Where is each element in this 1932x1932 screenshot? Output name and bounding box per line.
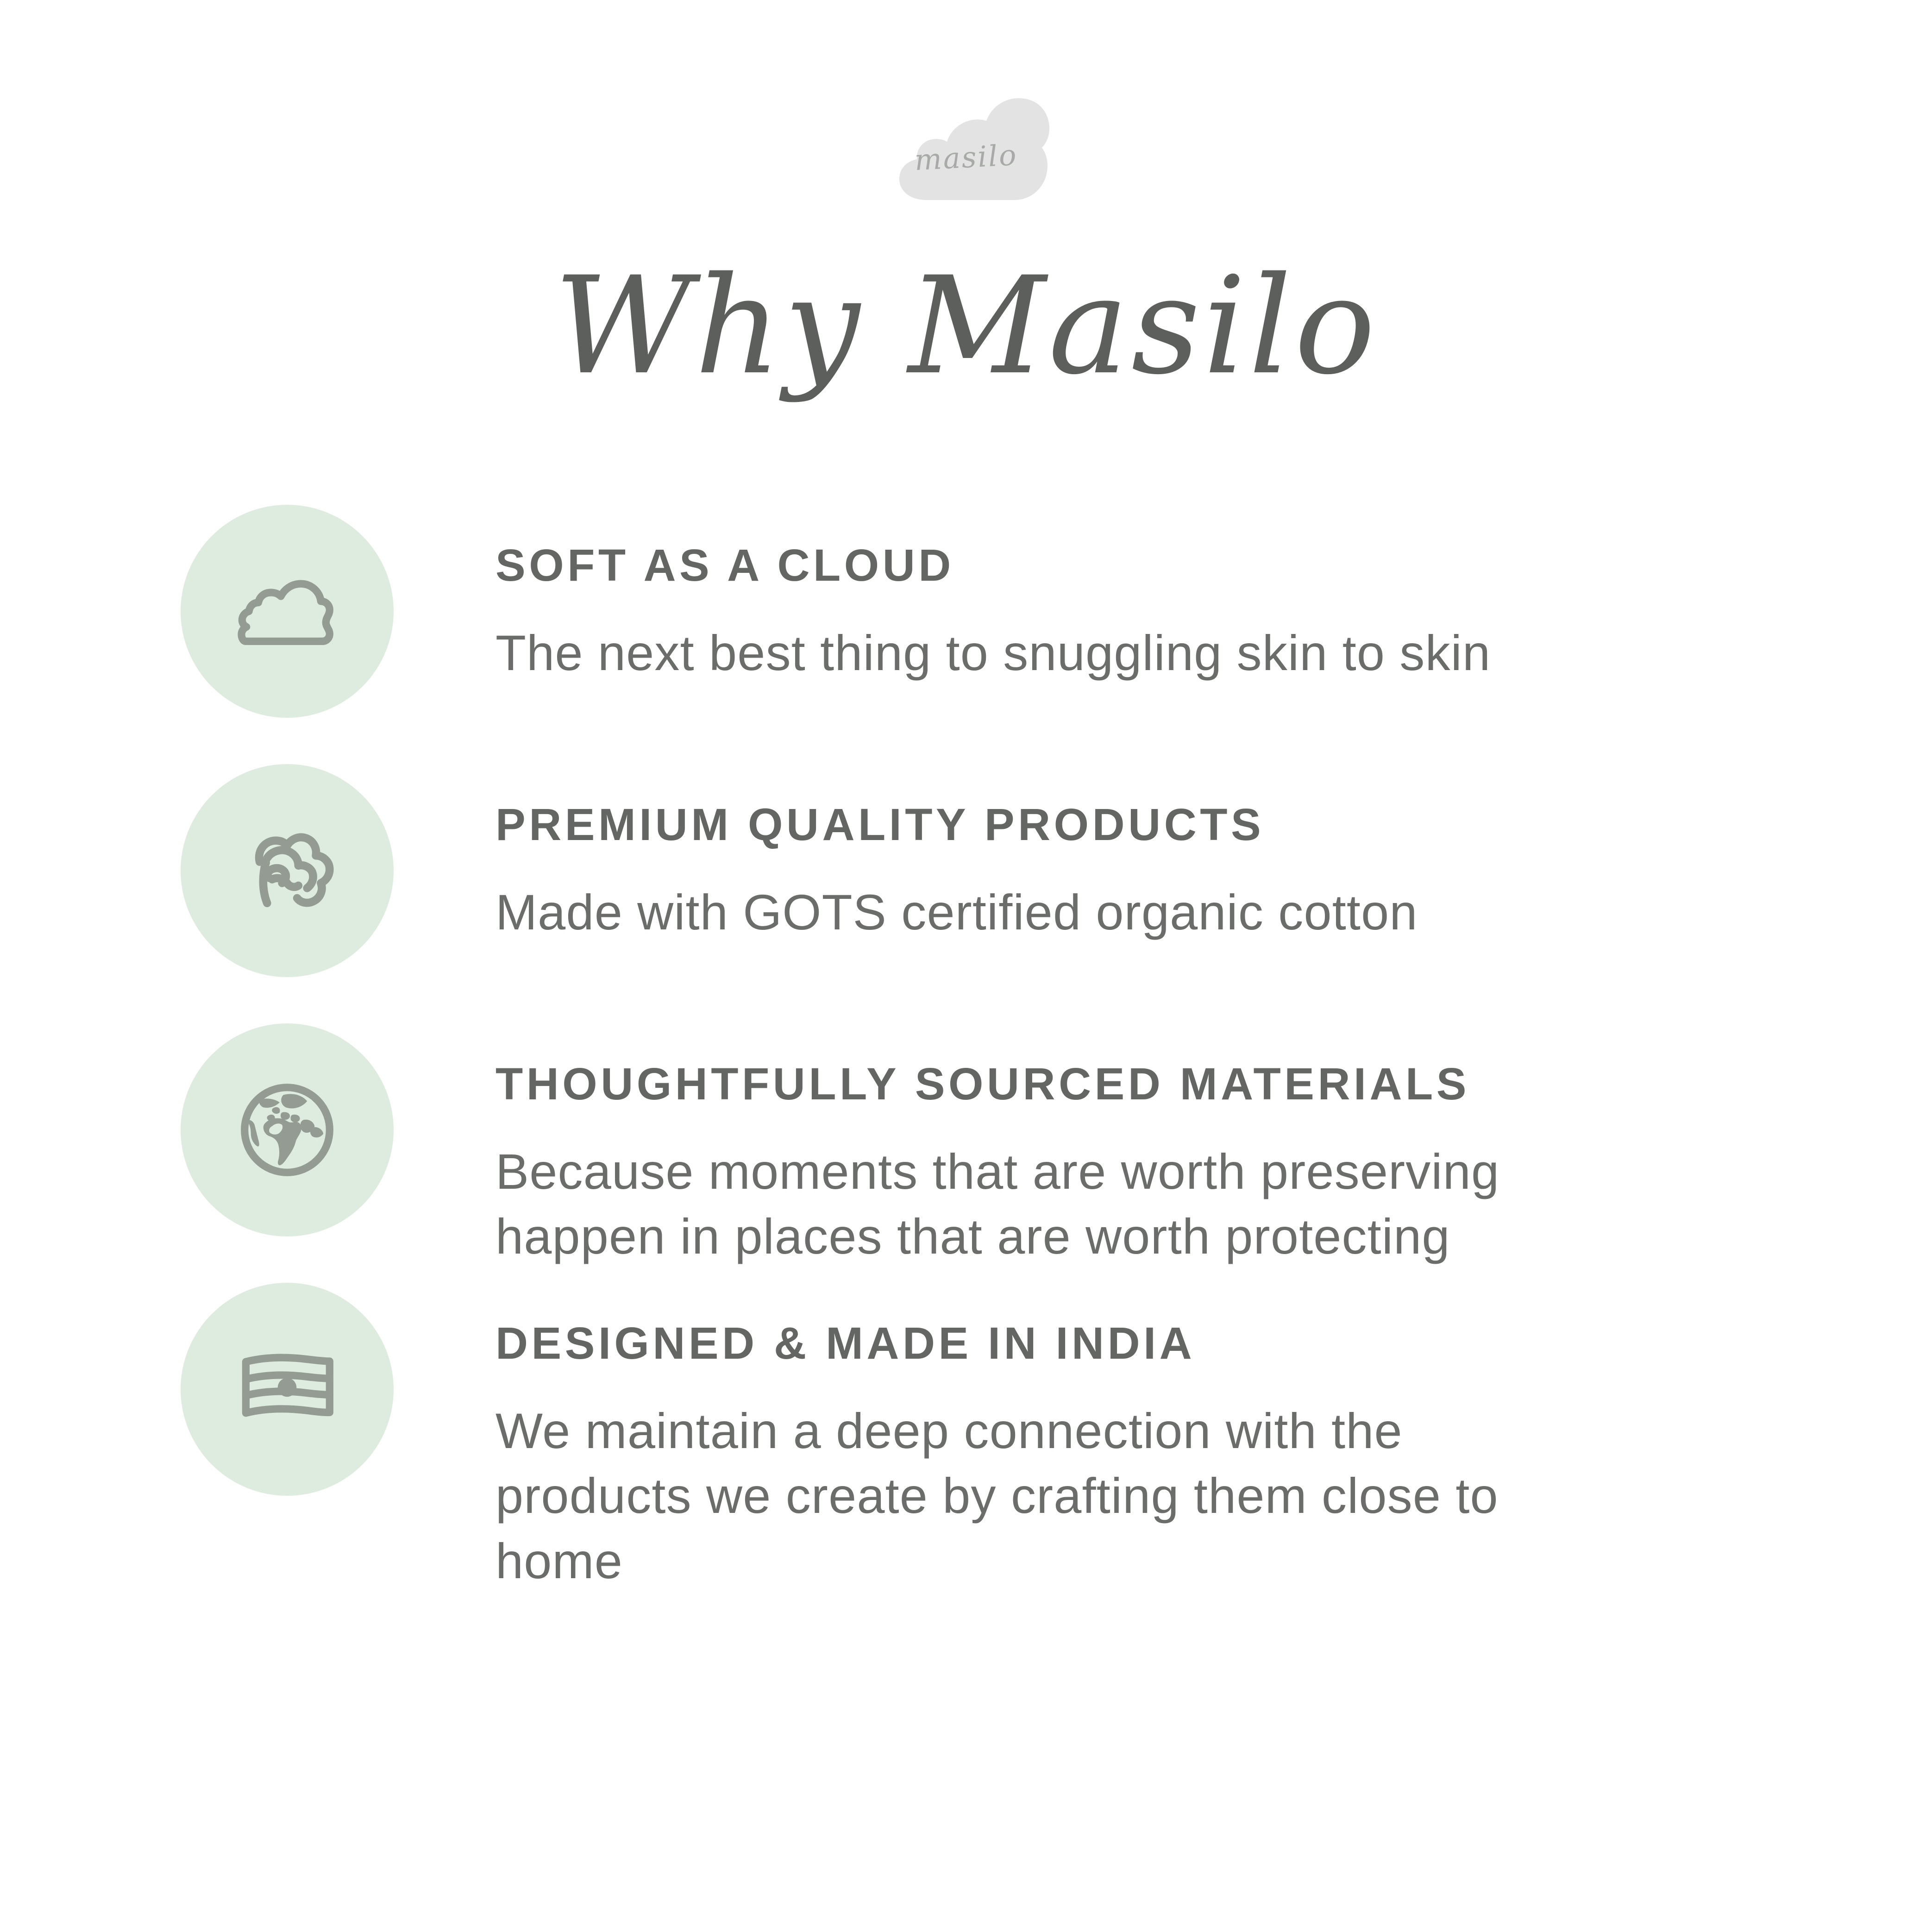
feature-heading: SOFT AS A CLOUD [496,542,1491,589]
feature-copy: SOFT AS A CLOUD The next best thing to s… [496,500,1491,685]
feature-copy: PREMIUM QUALITY PRODUCTS Made with GOTS … [496,759,1418,945]
icon-badge [181,764,394,977]
why-masilo-page: masilo Why Masilo SOFT AS A CLOUD The ne… [0,0,1932,1932]
list-item: SOFT AS A CLOUD The next best thing to s… [0,500,1932,759]
feature-copy: THOUGHTFULLY SOURCED MATERIALS Because m… [496,1019,1598,1269]
feature-heading: PREMIUM QUALITY PRODUCTS [496,801,1418,848]
feature-body: Because moments that are worth preservin… [496,1139,1598,1269]
feature-body: We maintain a deep connection with the p… [496,1399,1598,1593]
cloud-logo-icon: masilo [883,93,1049,208]
cotton-boll-icon [225,808,350,933]
feature-copy: DESIGNED & MADE IN INDIA We maintain a d… [496,1278,1598,1593]
india-flag-icon [225,1327,350,1452]
cloud-icon [225,549,350,674]
feature-body: Made with GOTS certified organic cotton [496,880,1418,945]
brand-wordmark: masilo [914,138,1018,177]
page-title: Why Masilo [0,259,1932,394]
icon-badge [181,1283,394,1496]
list-item: PREMIUM QUALITY PRODUCTS Made with GOTS … [0,759,1932,1019]
feature-heading: THOUGHTFULLY SOURCED MATERIALS [496,1060,1598,1108]
brand-logo: masilo [0,93,1932,208]
icon-badge [181,1023,394,1236]
globe-icon [225,1067,350,1192]
feature-body: The next best thing to snuggling skin to… [496,621,1491,685]
feature-list: SOFT AS A CLOUD The next best thing to s… [0,500,1932,1593]
list-item: DESIGNED & MADE IN INDIA We maintain a d… [0,1278,1932,1593]
icon-badge [181,505,394,718]
list-item: THOUGHTFULLY SOURCED MATERIALS Because m… [0,1019,1932,1278]
feature-heading: DESIGNED & MADE IN INDIA [496,1320,1598,1367]
